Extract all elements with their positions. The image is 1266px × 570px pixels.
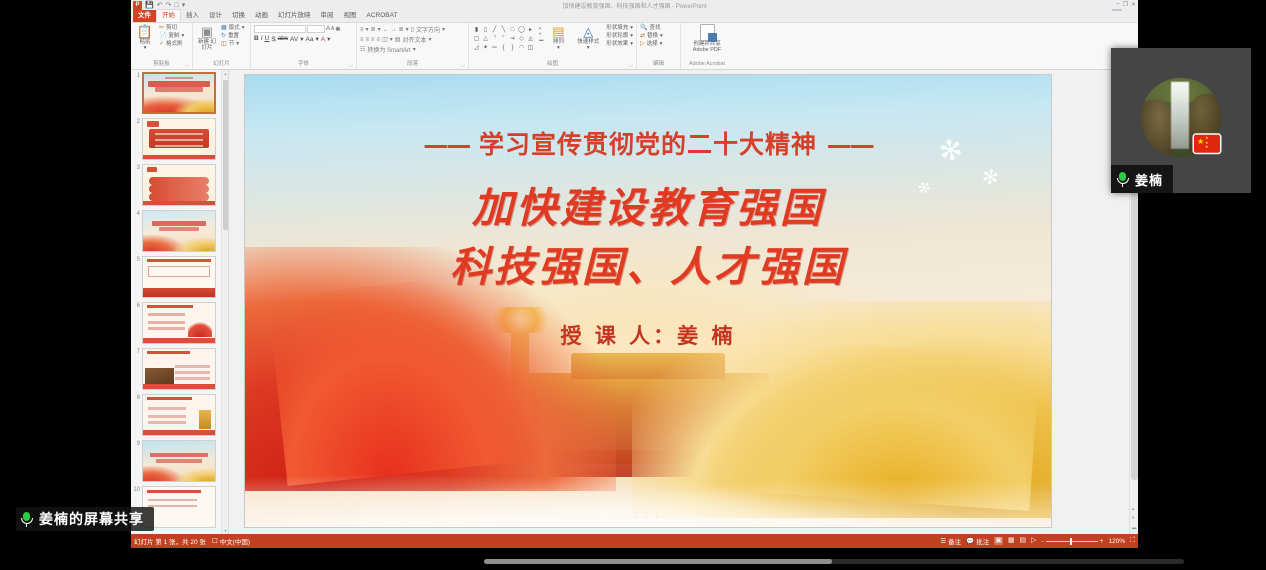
- slide-canvas-area: ✻ ✻ ✻ —— 学习宣传贯彻党的二十大精神 —— 加快建设教育强国 科技强国、…: [229, 70, 1138, 534]
- drawing-group-label-row: 绘图 ◡: [472, 61, 633, 69]
- paragraph-group-label: 段落: [407, 61, 418, 67]
- select-button[interactable]: ▷ 选择 ▾: [640, 41, 663, 48]
- chevron-down-icon[interactable]: ▾: [660, 33, 663, 40]
- list-item[interactable]: 4: [131, 210, 223, 252]
- slide-title-line-2: 科技强国、人才强国: [245, 238, 1051, 297]
- tab-design[interactable]: 设计: [204, 10, 227, 22]
- shape-textbox[interactable]: ▯: [481, 25, 490, 34]
- select-label: 选择: [647, 41, 658, 48]
- new-slide-icon: ▣: [201, 24, 213, 39]
- numbering-button[interactable]: ≣: [371, 26, 376, 33]
- search-icon: 🔍: [640, 25, 647, 32]
- scrollbar-thumb[interactable]: [484, 559, 832, 564]
- dialog-launcher-icon[interactable]: ◡: [349, 62, 353, 69]
- window-controls: – ❐ ✕: [1116, 1, 1136, 8]
- decrease-indent-button[interactable]: ←: [383, 27, 389, 33]
- clipboard-group-label-row: 剪贴板 ◡: [134, 61, 189, 69]
- align-left-button[interactable]: ≡: [360, 37, 364, 43]
- more-shapes-icon[interactable]: ▬: [539, 37, 544, 42]
- comments-button[interactable]: 💬 批注: [966, 536, 989, 546]
- chevron-down-icon[interactable]: ▾: [144, 45, 147, 51]
- thumbnail-art: [144, 74, 214, 112]
- status-bar: 幻灯片 第 1 张，共 20 张 ☐ 中文(中国) ☰ 备注 💬 批注 ▣ ▦ …: [131, 534, 1138, 548]
- participant-name-badge: 姜楠: [1111, 165, 1173, 193]
- thumbnail-art: [143, 441, 215, 481]
- ribbon-tabs: 文件 开始 插入 设计 切换 动画 幻灯片放映 审阅 视图 ACROBAT: [131, 11, 1138, 23]
- replace-label: 替换: [647, 33, 658, 40]
- tab-slideshow[interactable]: 幻灯片放映: [273, 10, 316, 22]
- chevron-down-icon[interactable]: ▾: [630, 41, 633, 48]
- ribbon-group-font: A A ✽ B I U S abc AV ▾ Aa: [251, 23, 357, 69]
- create-share-pdf-label: 创建并共享 Adobe PDF: [693, 41, 721, 53]
- shape-line[interactable]: ╱: [490, 25, 499, 34]
- thumbnail-art: [143, 165, 215, 205]
- tab-file[interactable]: 文件: [133, 10, 156, 22]
- reset-button[interactable]: ↻ 重置: [221, 33, 244, 40]
- reading-view-icon[interactable]: ▤: [1019, 537, 1026, 545]
- chevron-down-icon[interactable]: ▾: [182, 33, 185, 40]
- new-slide-button[interactable]: ▣ 新建 幻灯片: [196, 24, 218, 51]
- align-center-button[interactable]: ≡: [366, 37, 370, 43]
- microphone-icon[interactable]: [20, 512, 33, 527]
- paintbrush-icon: ✓: [159, 41, 164, 48]
- dialog-launcher-icon[interactable]: ◡: [629, 62, 633, 69]
- chevron-down-icon[interactable]: ▾: [406, 26, 409, 33]
- screen-share-indicator: 姜楠的屏幕共享: [16, 507, 154, 531]
- scrollbar-thumb[interactable]: [223, 80, 228, 230]
- editing-group-label-row: 编辑: [640, 61, 677, 69]
- align-text-icon: ▤: [395, 36, 401, 43]
- thumbnail-art: [143, 395, 215, 435]
- chevron-down-icon[interactable]: ▾: [428, 36, 431, 43]
- horizontal-scrollbar[interactable]: [484, 559, 1184, 564]
- shape-more[interactable]: ▸: [526, 25, 535, 34]
- shapes-gallery[interactable]: ▮ ▯ ╱ ╲ □ ◯ ▸ ▢ △ ⌝ ⌜ ⇝ ◇ ◬ ◿: [472, 24, 535, 52]
- shrink-font-button[interactable]: A: [331, 26, 334, 32]
- notes-button[interactable]: ☰ 备注: [940, 536, 961, 546]
- slide-number: 10: [133, 486, 140, 494]
- list-item[interactable]: 7: [131, 348, 223, 390]
- line-spacing-button[interactable]: ≣: [399, 26, 404, 33]
- thumbnail-pane-scrollbar[interactable]: ▴ ▾: [221, 70, 228, 534]
- thumbnail-art: [143, 257, 215, 297]
- find-button[interactable]: 🔍 查找: [640, 25, 663, 32]
- ribbon-group-editing: 🔍 查找 ⇄ 替换 ▾ ▷ 选择 ▾: [637, 23, 681, 69]
- microphone-icon[interactable]: [1116, 172, 1129, 187]
- ribbon-group-slides: ▣ 新建 幻灯片 ▦ 版式 ▾ ↻ 重置: [193, 23, 251, 69]
- pdf-icon: [700, 24, 715, 41]
- section-label: 节: [229, 41, 235, 48]
- chevron-down-icon[interactable]: ▾: [223, 528, 228, 533]
- participant-name: 姜楠: [1135, 170, 1163, 189]
- previous-slide-icon[interactable]: ▴: [1132, 506, 1134, 512]
- cut-button[interactable]: ✂ 剪切: [159, 25, 184, 32]
- font-size-input[interactable]: [307, 25, 325, 33]
- copy-label: 复制: [168, 33, 179, 40]
- slide-thumbnail[interactable]: [142, 210, 216, 252]
- next-slide-icon[interactable]: ▾: [1132, 515, 1134, 521]
- tab-animations[interactable]: 动画: [250, 10, 273, 22]
- list-item[interactable]: 5: [131, 256, 223, 298]
- shape-callout[interactable]: ◠: [517, 43, 526, 52]
- chevron-down-icon[interactable]: ▾: [300, 35, 303, 43]
- editing-area: 1 2: [131, 70, 1138, 534]
- reset-label: 重置: [228, 33, 239, 40]
- fit-to-window-icon[interactable]: ⛶: [1130, 537, 1135, 545]
- slide-number: 8: [133, 394, 140, 402]
- shape-banner[interactable]: ◫: [526, 43, 535, 52]
- slide-title-line-1: 加快建设教育强国: [245, 179, 1051, 238]
- shapes-gallery-scroll[interactable]: ▴ ▾ ▬: [538, 24, 544, 43]
- slide-number: 2: [133, 118, 140, 126]
- ribbon: 📋 粘贴 ▾ ✂ 剪切 📄 复制 ▾: [131, 23, 1138, 70]
- chevron-down-icon[interactable]: ▾: [242, 25, 245, 32]
- ribbon-group-acrobat: 创建并共享 Adobe PDF Adobe Acrobat: [681, 23, 733, 69]
- zoom-out-button[interactable]: -: [1042, 538, 1044, 545]
- shape-rounded-rect[interactable]: ▢: [472, 34, 481, 43]
- zoom-level[interactable]: 120%: [1108, 538, 1125, 545]
- grow-font-button[interactable]: A: [326, 26, 330, 32]
- slide-red-flag-secondary: [268, 270, 544, 486]
- shape-square[interactable]: □: [508, 25, 517, 34]
- new-slide-label: 新建 幻灯片: [196, 39, 218, 51]
- video-tile[interactable]: ★ ★★★ 姜楠: [1111, 48, 1251, 193]
- shape-star[interactable]: ✦: [481, 43, 490, 52]
- thumbnail-art: [143, 349, 215, 389]
- shape-bracket-left[interactable]: {: [499, 43, 508, 52]
- dialog-launcher-icon[interactable]: ◡: [185, 62, 189, 69]
- tab-acrobat[interactable]: ACROBAT: [362, 10, 403, 22]
- zoom-slider[interactable]: - +: [1042, 538, 1104, 545]
- clear-format-icon[interactable]: ✽: [335, 26, 340, 33]
- replace-icon: ⇄: [640, 33, 645, 40]
- slide-decorative-dots: · · ·: [245, 514, 1051, 521]
- chevron-down-icon[interactable]: ▾: [327, 35, 330, 43]
- slide-thumbnail[interactable]: [142, 348, 216, 390]
- minimize-button[interactable]: –: [1116, 1, 1119, 8]
- chevron-down-icon[interactable]: ▾: [587, 45, 590, 51]
- tab-view[interactable]: 视图: [339, 10, 362, 22]
- thumbnail-art: [143, 119, 215, 159]
- slides-group-label: 幻灯片: [213, 61, 230, 67]
- copy-button[interactable]: 📄 复制 ▾: [159, 33, 184, 40]
- headline-dash-left: ——: [423, 130, 469, 159]
- ribbon-group-drawing: ▮ ▯ ╱ ╲ □ ◯ ▸ ▢ △ ⌝ ⌜ ⇝ ◇ ◬ ◿: [469, 23, 637, 69]
- screen-share-label: 姜楠的屏幕共享: [39, 509, 144, 529]
- slide-number: 1: [133, 72, 140, 80]
- format-painter-label: 格式刷: [166, 41, 183, 48]
- slide-thumbnail[interactable]: [142, 302, 216, 344]
- quick-styles-icon: ◬: [583, 24, 593, 39]
- replace-button[interactable]: ⇄ 替换 ▾: [640, 33, 663, 40]
- justify-button[interactable]: ≡: [377, 37, 381, 43]
- tab-review[interactable]: 审阅: [316, 10, 339, 22]
- chevron-down-icon[interactable]: ▾: [236, 41, 239, 48]
- slide-canvas[interactable]: ✻ ✻ ✻ —— 学习宣传贯彻党的二十大精神 —— 加快建设教育强国 科技强国、…: [245, 75, 1051, 527]
- italic-button[interactable]: I: [261, 35, 263, 43]
- slide-thumbnail[interactable]: [142, 394, 216, 436]
- text-shadow-button[interactable]: S: [271, 36, 275, 43]
- smartart-label[interactable]: 转换为 SmartArt: [367, 45, 410, 54]
- shape-triangle[interactable]: △: [481, 34, 490, 43]
- slides-group-label-row: 幻灯片: [196, 61, 247, 69]
- slide-number: 6: [133, 302, 140, 310]
- find-label: 查找: [649, 25, 660, 32]
- shape-effects-label: 形状效果: [606, 41, 628, 48]
- slide-thumbnail[interactable]: [142, 164, 216, 206]
- chevron-down-icon[interactable]: ▾: [366, 26, 369, 33]
- clipboard-group-label: 剪贴板: [153, 61, 170, 67]
- dialog-launcher-icon[interactable]: ◡: [461, 62, 465, 69]
- screen-root: P 💾 ↶ ↷ □ ▾ 加快建设教育强国、科技强国和人才强国 - PowerPo…: [0, 0, 1266, 570]
- font-group-label-row: 字体 ◡: [254, 61, 353, 69]
- text-direction-label[interactable]: 文字方向: [416, 25, 440, 34]
- underline-button[interactable]: U: [265, 35, 270, 43]
- editing-group-label: 编辑: [653, 61, 664, 67]
- zoom-knob[interactable]: [1070, 538, 1072, 545]
- reset-icon: ↻: [221, 33, 226, 40]
- shape-line2[interactable]: ╲: [499, 25, 508, 34]
- arrange-button[interactable]: ▤ 排列 ▾: [547, 24, 571, 51]
- language-label: 中文(中国): [220, 536, 250, 546]
- shape-bracket-right[interactable]: }: [508, 43, 517, 52]
- avatar-wrapper: ★ ★★★: [1141, 77, 1221, 157]
- comment-icon: 💬: [966, 537, 974, 545]
- tab-insert[interactable]: 插入: [181, 10, 204, 22]
- flag-small-stars: ★★★: [1205, 136, 1209, 150]
- slide-thumbnail[interactable]: [142, 440, 216, 482]
- zoom-track[interactable]: [1046, 541, 1098, 542]
- shape-rect[interactable]: ▮: [472, 25, 481, 34]
- chevron-down-icon[interactable]: ▾: [630, 33, 633, 40]
- acrobat-group-label-row: Adobe Acrobat: [684, 61, 730, 69]
- shape-arrow[interactable]: ⇝: [508, 34, 517, 43]
- list-item[interactable]: 6: [131, 302, 223, 344]
- chevron-down-icon[interactable]: ▾: [630, 25, 633, 32]
- slide-headline[interactable]: —— 学习宣传贯彻党的二十大精神 ——: [245, 125, 1051, 161]
- columns-button[interactable]: ◫: [382, 36, 388, 43]
- shape-fill-label: 形状填充: [606, 25, 628, 32]
- flag-big-star: ★: [1197, 137, 1204, 145]
- slide-thumbnail[interactable]: [142, 72, 216, 114]
- powerpoint-window: P 💾 ↶ ↷ □ ▾ 加快建设教育强国、科技强国和人才强国 - PowerPo…: [131, 0, 1138, 548]
- chevron-down-icon[interactable]: ▾: [442, 26, 445, 33]
- section-button[interactable]: ◫ 节 ▾: [221, 41, 244, 48]
- quick-styles-button[interactable]: ◬ 快速样式 ▾: [573, 24, 603, 51]
- character-spacing-button[interactable]: AV: [290, 36, 298, 43]
- change-case-button[interactable]: Aa: [306, 36, 314, 43]
- tab-home[interactable]: 开始: [156, 9, 181, 22]
- text-direction-icon: ▯: [411, 26, 414, 33]
- list-item[interactable]: 2: [131, 118, 223, 160]
- format-painter-button[interactable]: ✓ 格式刷: [159, 41, 184, 48]
- list-item[interactable]: 8: [131, 394, 223, 436]
- layout-button[interactable]: ▦ 版式 ▾: [221, 25, 244, 32]
- status-bar-left: 幻灯片 第 1 张，共 20 张 ☐ 中文(中国): [134, 536, 250, 546]
- china-flag-icon: ★ ★★★: [1194, 134, 1220, 152]
- chevron-down-icon[interactable]: ▾: [557, 45, 560, 51]
- headline-text: 学习宣传贯彻党的二十大精神: [479, 130, 817, 159]
- notes-icon: ☰: [940, 537, 946, 545]
- comments-label: 批注: [976, 536, 989, 546]
- normal-view-icon[interactable]: ▣: [994, 537, 1003, 545]
- slide-sorter-icon[interactable]: ▦: [1008, 537, 1015, 545]
- clipboard-icon: 📋: [137, 24, 153, 39]
- bold-button[interactable]: B: [254, 35, 259, 43]
- chevron-down-icon[interactable]: ▾: [390, 36, 393, 43]
- shape-arc[interactable]: ⌝: [490, 34, 499, 43]
- chevron-down-icon[interactable]: ▾: [660, 41, 663, 48]
- slide-thumbnail[interactable]: [142, 118, 216, 160]
- zoom-in-button[interactable]: +: [1100, 538, 1104, 545]
- slide-number: 9: [133, 440, 140, 448]
- slide-number: 5: [133, 256, 140, 264]
- slide-thumbnail-pane[interactable]: 1 2: [131, 70, 229, 534]
- shape-diamond[interactable]: ◇: [517, 34, 526, 43]
- arrange-icon: ▤: [552, 24, 564, 39]
- slide-counter: 幻灯片 第 1 张，共 20 张: [134, 536, 206, 546]
- thumbnail-art: [143, 303, 215, 343]
- ribbon-group-paragraph: ≡ ▾ ≣ ▾ ← → ≣ ▾ ▯ 文字方向 ▾: [357, 23, 469, 69]
- font-color-button[interactable]: A: [321, 36, 325, 43]
- restore-button[interactable]: ❐: [1123, 1, 1128, 8]
- font-group-label: 字体: [298, 61, 309, 67]
- chevron-down-icon[interactable]: ▾: [378, 26, 381, 33]
- scissors-icon: ✂: [159, 25, 164, 32]
- shape-outline-button[interactable]: 形状轮廓 ▾: [606, 33, 633, 40]
- paragraph-group-label-row: 段落 ◡: [360, 61, 465, 69]
- layout-label: 版式: [229, 25, 240, 32]
- strikethrough-button[interactable]: abc: [278, 35, 288, 43]
- slide-thumbnail[interactable]: [142, 256, 216, 298]
- bullets-button[interactable]: ≡: [360, 27, 364, 33]
- shape-wave[interactable]: ∾: [490, 43, 499, 52]
- smartart-icon: ☷: [360, 46, 365, 53]
- slide-number: 7: [133, 348, 140, 356]
- slide-number: 4: [133, 210, 140, 218]
- thumbnail-art: [143, 211, 215, 251]
- shape-oval[interactable]: ◯: [517, 25, 526, 34]
- list-item[interactable]: 9: [131, 440, 223, 482]
- paste-button[interactable]: 📋 粘贴 ▾: [134, 24, 156, 51]
- select-icon: ▷: [640, 41, 645, 48]
- fit-slide-icon[interactable]: ▬: [1132, 525, 1137, 530]
- font-name-input[interactable]: [254, 25, 306, 33]
- layout-icon: ▦: [221, 25, 227, 32]
- close-button[interactable]: ✕: [1131, 1, 1136, 8]
- slide-title[interactable]: 加快建设教育强国 科技强国、人才强国: [245, 179, 1051, 297]
- chevron-up-icon[interactable]: ▴: [223, 71, 228, 76]
- headline-dash-right: ——: [827, 130, 873, 159]
- list-item[interactable]: 3: [131, 164, 223, 206]
- slide-presenter[interactable]: 授 课 人：姜 楠: [245, 320, 1051, 350]
- align-right-button[interactable]: ≡: [371, 37, 375, 43]
- window-title: 加快建设教育强国、科技强国和人才强国 - PowerPoint: [131, 1, 1138, 10]
- shape-effects-button[interactable]: 形状效果 ▾: [606, 41, 633, 48]
- status-bar-right: ☰ 备注 💬 批注 ▣ ▦ ▤ ▷ - + 120% ⛶: [940, 536, 1135, 546]
- slide-number: 3: [133, 164, 140, 172]
- shape-outline-label: 形状轮廓: [606, 33, 628, 40]
- chevron-down-icon[interactable]: ▾: [413, 46, 416, 53]
- create-share-pdf-button[interactable]: 创建并共享 Adobe PDF: [686, 24, 728, 53]
- section-icon: ◫: [221, 41, 227, 48]
- shape-fill-button[interactable]: 形状填充 ▾: [606, 25, 633, 32]
- bottom-bar: [0, 548, 1266, 570]
- cut-label: 剪切: [166, 25, 177, 32]
- chevron-down-icon[interactable]: ▾: [315, 35, 318, 43]
- list-item[interactable]: 1: [131, 72, 223, 114]
- slideshow-view-icon[interactable]: ▷: [1031, 537, 1036, 545]
- shape-curve[interactable]: ⌜: [499, 34, 508, 43]
- drawing-group-label: 绘图: [547, 61, 558, 67]
- copy-icon: 📄: [159, 33, 166, 40]
- shape-scroll[interactable]: ◬: [526, 34, 535, 43]
- tab-transitions[interactable]: 切换: [227, 10, 250, 22]
- align-text-label[interactable]: 对齐文本: [402, 35, 426, 44]
- ribbon-group-clipboard: 📋 粘贴 ▾ ✂ 剪切 📄 复制 ▾: [131, 23, 193, 69]
- increase-indent-button[interactable]: →: [391, 27, 397, 33]
- acrobat-group-label: Adobe Acrobat: [689, 61, 725, 67]
- shape-freeform[interactable]: ◿: [472, 43, 481, 52]
- language-indicator[interactable]: ☐ 中文(中国): [212, 536, 250, 546]
- notes-label: 备注: [948, 536, 961, 546]
- language-icon: ☐: [212, 537, 218, 545]
- slide-thumbnail-list: 1 2: [131, 72, 223, 532]
